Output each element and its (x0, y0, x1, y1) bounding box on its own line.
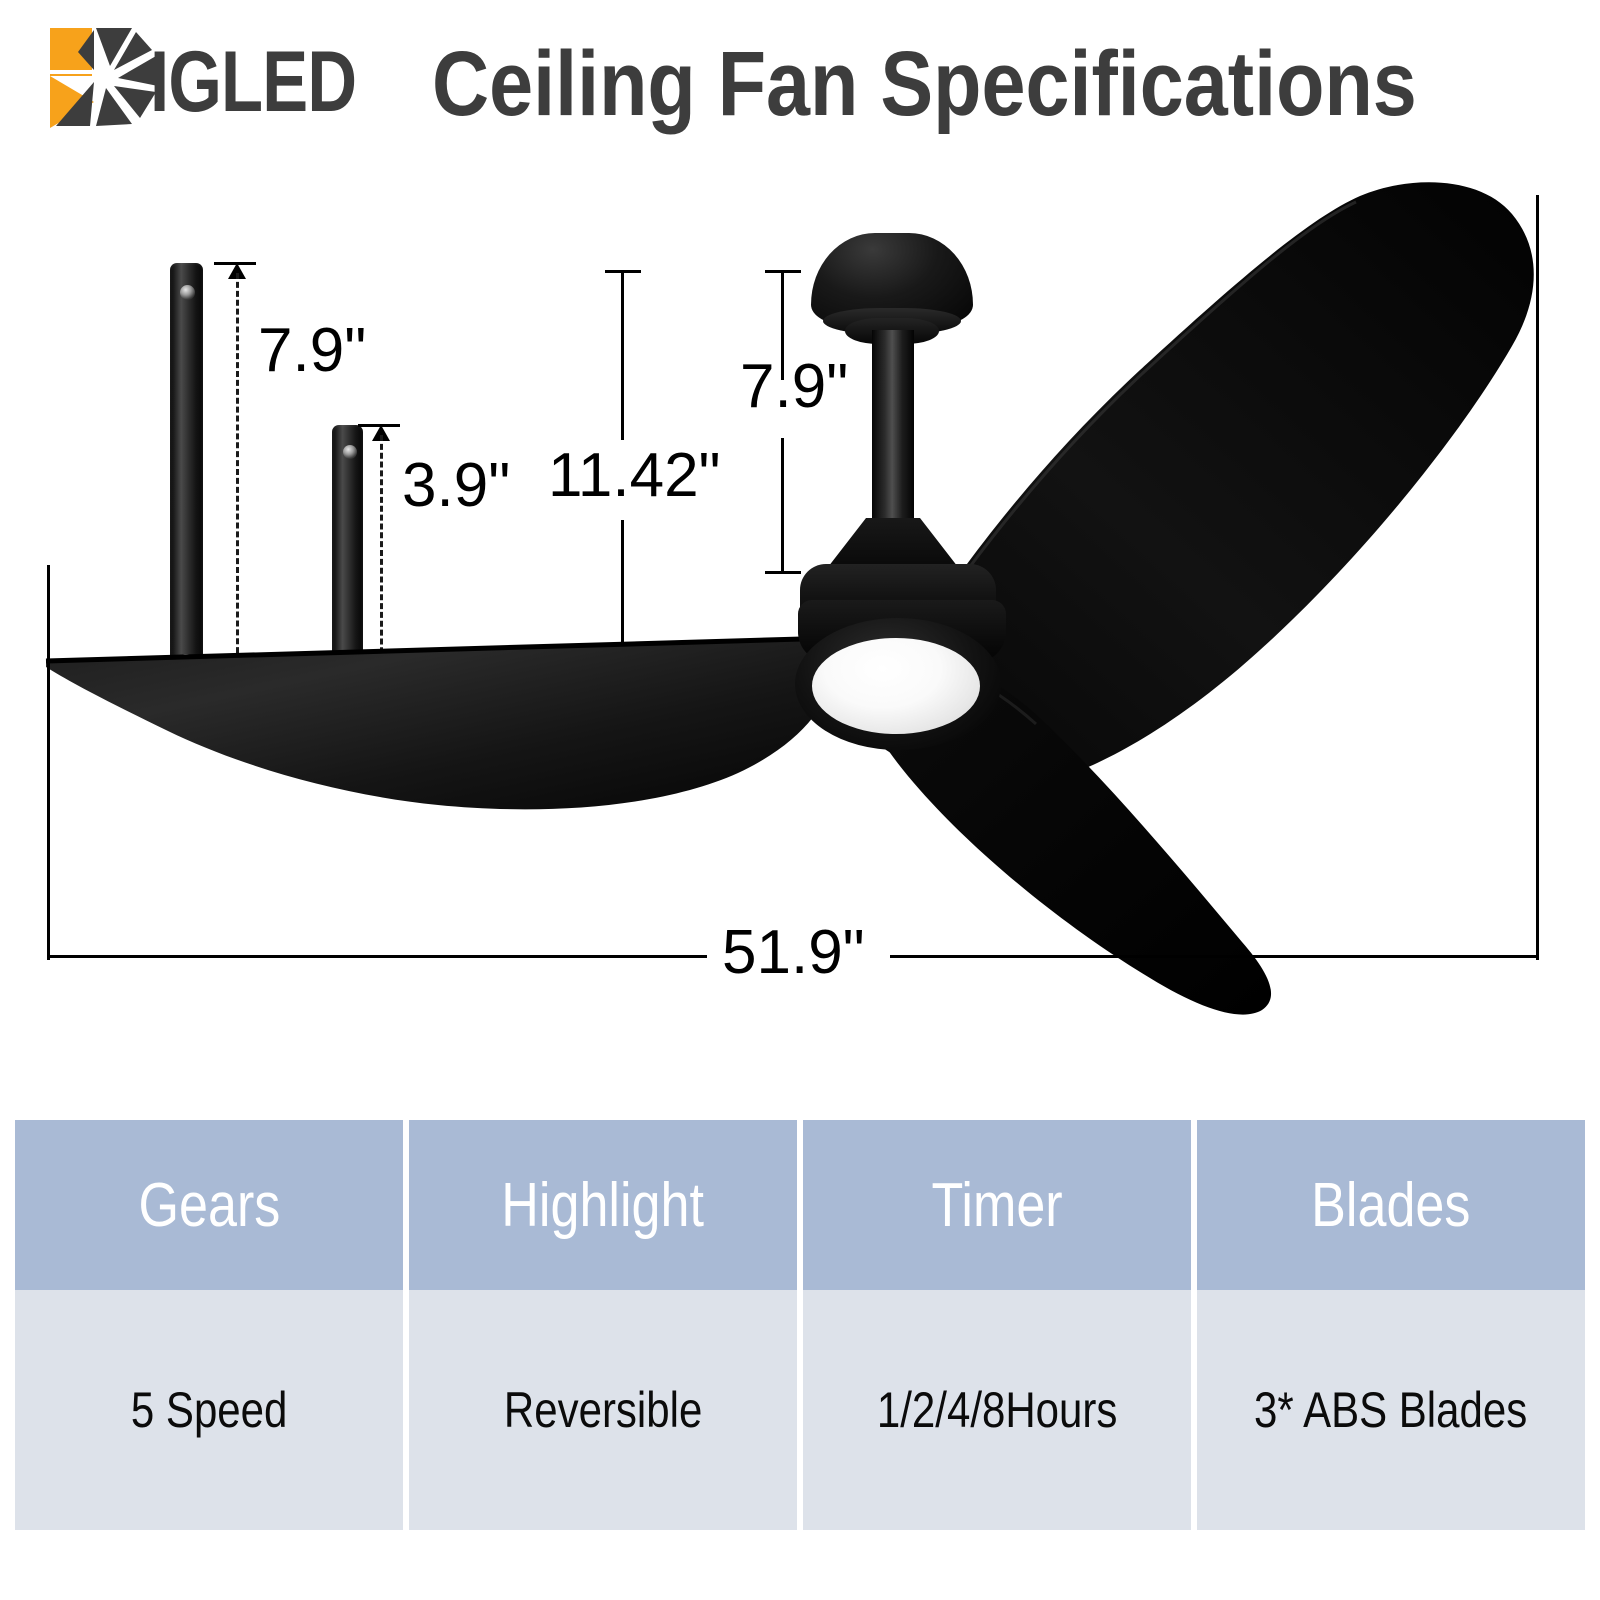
specification-table: Gears Highlight Timer Blades 5 Speed Rev… (15, 1120, 1585, 1530)
dim-line-drop-height-lower (781, 438, 784, 573)
brand-name: IGLED (150, 34, 356, 130)
dim-cap-downrod-long-top (214, 262, 256, 265)
table-cell-highlight-value: Reversible (409, 1290, 803, 1530)
dim-label-downrod-long: 7.9" (258, 320, 366, 382)
header-label-timer: Timer (931, 1170, 1062, 1241)
header-label-highlight: Highlight (502, 1170, 705, 1241)
table-cell-timer-value: 1/2/4/8Hours (803, 1290, 1197, 1530)
dim-label-drop-height: 7.9" (740, 356, 848, 418)
digled-logo-icon (48, 26, 160, 130)
dim-label-downrod-short: 3.9" (402, 455, 510, 517)
downrod-long-hole-top (180, 285, 195, 300)
dim-line-blade-span-left (47, 955, 707, 958)
ceiling-fan-diagram: 7.9" 3.9" 11.42" 7.9" (0, 160, 1600, 1060)
value-label-highlight: Reversible (504, 1381, 702, 1439)
table-header-timer: Timer (803, 1120, 1197, 1290)
header-label-gears: Gears (138, 1170, 280, 1241)
table-cell-blades-value: 3* ABS Blades (1197, 1290, 1585, 1530)
table-row: 5 Speed Reversible 1/2/4/8Hours 3* ABS B… (15, 1290, 1585, 1530)
table-cell-gears-value: 5 Speed (15, 1290, 409, 1530)
dim-dash-downrod-long (236, 273, 239, 671)
ext-line-left (47, 565, 50, 960)
fan-led-light-lens (812, 638, 980, 734)
table-header-highlight: Highlight (409, 1120, 803, 1290)
table-header-row: Gears Highlight Timer Blades (15, 1120, 1585, 1290)
value-label-timer: 1/2/4/8Hours (877, 1381, 1117, 1439)
dim-cap-drop-height-bottom (765, 571, 801, 574)
table-header-gears: Gears (15, 1120, 409, 1290)
dim-line-total-height-upper (621, 270, 624, 440)
value-label-gears: 5 Speed (131, 1381, 287, 1439)
value-label-blades: 3* ABS Blades (1254, 1381, 1527, 1439)
page-header: IGLED Ceiling Fan Specifications (0, 0, 1600, 160)
dim-cap-downrod-short-top (358, 424, 400, 427)
fan-blade-left (38, 615, 858, 815)
dim-label-total-height: 11.42" (548, 445, 721, 507)
dim-line-blade-span-right (890, 955, 1539, 958)
header-label-blades: Blades (1311, 1170, 1470, 1241)
ext-line-right (1536, 195, 1539, 960)
dim-label-blade-span: 51.9" (722, 922, 865, 984)
downrod-short-hole-top (343, 445, 357, 459)
page-title: Ceiling Fan Specifications (432, 30, 1417, 138)
table-header-blades: Blades (1197, 1120, 1585, 1290)
